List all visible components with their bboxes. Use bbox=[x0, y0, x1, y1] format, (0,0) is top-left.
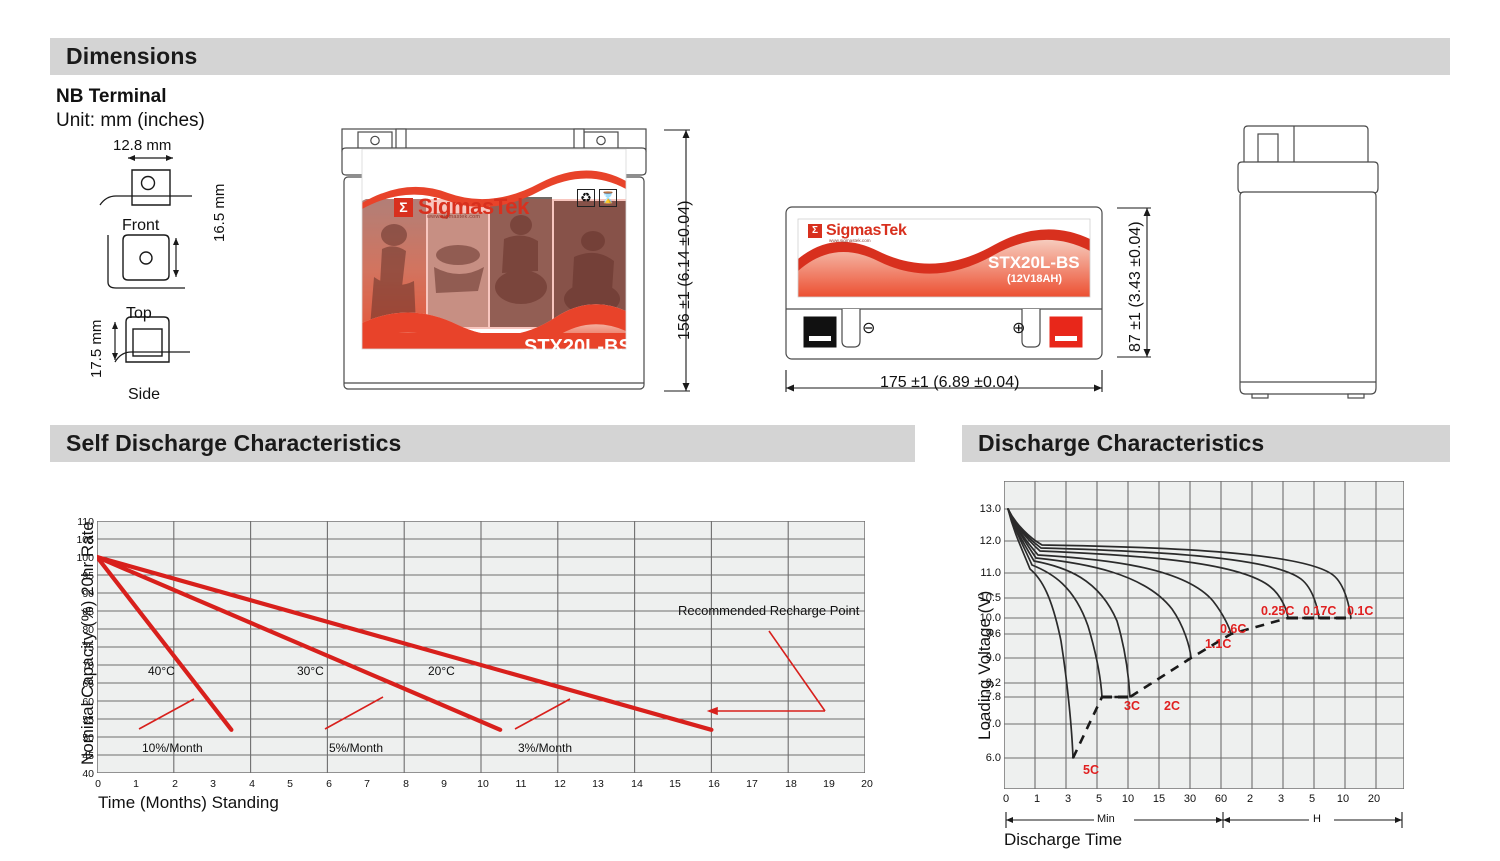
x-tick-11: 11 bbox=[515, 778, 527, 790]
y-tick-110: 110 bbox=[76, 516, 94, 528]
dy-tick-78: 7.8 bbox=[975, 691, 1001, 703]
y-tick-75: 75 bbox=[76, 642, 94, 654]
annotation-30c: 30°C bbox=[297, 664, 324, 678]
sigma-logo-icon-side: Σ bbox=[808, 224, 822, 238]
terminal-width-dim: 12.8 mm bbox=[113, 137, 171, 154]
x-tick-13: 13 bbox=[592, 778, 604, 790]
y-tick-70: 70 bbox=[76, 660, 94, 672]
dx-tick-2h: 2 bbox=[1245, 793, 1255, 805]
crate-label-3c: 3C bbox=[1124, 699, 1140, 713]
x-tick-7: 7 bbox=[363, 778, 371, 790]
dimensions-title: Dimensions bbox=[50, 43, 197, 70]
discharge-time-unit-bars bbox=[1004, 810, 1404, 835]
self-discharge-title: Self Discharge Characteristics bbox=[50, 430, 401, 457]
x-tick-18: 18 bbox=[785, 778, 797, 790]
dx-tick-3h: 3 bbox=[1276, 793, 1286, 805]
crate-label-2c: 2C bbox=[1164, 699, 1180, 713]
dx-tick-10h: 10 bbox=[1336, 793, 1350, 805]
recycle-icon: ♻ bbox=[577, 189, 595, 207]
x-tick-15: 15 bbox=[669, 778, 681, 790]
discharge-title: Discharge Characteristics bbox=[962, 430, 1264, 457]
battery-length-dim-text: 175 ±1 (6.89 ±0.04) bbox=[880, 374, 1019, 392]
battery-height-dim-text: 156 ±1 (6.14 ±0.04) bbox=[676, 201, 694, 340]
positive-terminal-symbol: ⊕ bbox=[1012, 318, 1025, 338]
terminal-top-label: Top bbox=[126, 305, 152, 323]
y-tick-90: 90 bbox=[76, 588, 94, 600]
x-tick-14: 14 bbox=[631, 778, 643, 790]
dy-tick-12: 12.0 bbox=[975, 535, 1001, 547]
dx-tick-1: 1 bbox=[1032, 793, 1042, 805]
y-tick-95: 95 bbox=[76, 570, 94, 582]
x-tick-20: 20 bbox=[861, 778, 873, 790]
battery-rating-front: (12V18AH) bbox=[556, 356, 621, 371]
dy-tick-7: 7.0 bbox=[975, 718, 1001, 730]
dy-tick-9: 9.0 bbox=[975, 652, 1001, 664]
annotation-10pct-month: 10%/Month bbox=[142, 741, 203, 755]
x-tick-1: 1 bbox=[132, 778, 140, 790]
x-tick-0: 0 bbox=[94, 778, 102, 790]
terminal-height-dim: 16.5 mm bbox=[211, 184, 228, 242]
x-tick-5: 5 bbox=[286, 778, 294, 790]
dy-tick-105: 10.5 bbox=[975, 592, 1001, 604]
x-tick-16: 16 bbox=[708, 778, 720, 790]
y-tick-65: 65 bbox=[76, 678, 94, 690]
annotation-20c: 20°C bbox=[428, 664, 455, 678]
x-tick-3: 3 bbox=[209, 778, 217, 790]
dx-tick-5h: 5 bbox=[1307, 793, 1317, 805]
discharge-section-header: Discharge Characteristics bbox=[962, 425, 1450, 462]
y-tick-40: 40 bbox=[76, 768, 94, 780]
crate-label-5c: 5C bbox=[1083, 763, 1099, 777]
dy-tick-10: 10.0 bbox=[975, 612, 1001, 624]
dx-tick-30: 30 bbox=[1183, 793, 1197, 805]
self-discharge-chart bbox=[97, 521, 865, 778]
dy-tick-96: 9.6 bbox=[975, 628, 1001, 640]
discharge-chart bbox=[1004, 481, 1404, 794]
y-tick-60: 60 bbox=[76, 696, 94, 708]
brand-website-side: www.sigmastek.com bbox=[829, 238, 871, 243]
y-tick-45: 45 bbox=[76, 750, 94, 762]
terminal-side-label: Side bbox=[128, 386, 160, 404]
x-tick-9: 9 bbox=[440, 778, 448, 790]
annotation-40c: 40°C bbox=[148, 664, 175, 678]
terminal-front-label: Front bbox=[122, 217, 159, 235]
terminal-type-label: NB Terminal bbox=[56, 86, 167, 108]
x-tick-4: 4 bbox=[248, 778, 256, 790]
x-tick-19: 19 bbox=[823, 778, 835, 790]
dy-tick-13: 13.0 bbox=[975, 503, 1001, 515]
dx-tick-5: 5 bbox=[1094, 793, 1104, 805]
x-tick-17: 17 bbox=[746, 778, 758, 790]
sigma-logo-icon: Σ bbox=[394, 198, 413, 217]
y-tick-100: 100 bbox=[76, 552, 94, 564]
terminal-depth-dim: 17.5 mm bbox=[88, 320, 105, 378]
y-tick-105: 105 bbox=[76, 534, 94, 546]
dy-tick-82: 8.2 bbox=[975, 677, 1001, 689]
dx-tick-0: 0 bbox=[1001, 793, 1011, 805]
x-tick-12: 12 bbox=[554, 778, 566, 790]
crate-label-0-6c: 0.6C bbox=[1220, 622, 1246, 636]
y-tick-55: 55 bbox=[76, 714, 94, 726]
crate-label-0-1c: 0.1C bbox=[1347, 604, 1373, 618]
y-tick-50: 50 bbox=[76, 732, 94, 744]
battery-model-side: STX20L-BS bbox=[988, 253, 1080, 273]
dx-tick-60: 60 bbox=[1214, 793, 1228, 805]
annotation-3pct-month: 3%/Month bbox=[518, 741, 572, 755]
crate-label-1-1c: 1.1C bbox=[1205, 637, 1231, 651]
dy-tick-6: 6.0 bbox=[975, 752, 1001, 764]
self-discharge-section-header: Self Discharge Characteristics bbox=[50, 425, 915, 462]
dy-tick-11: 11.0 bbox=[975, 567, 1001, 579]
crate-label-0-25c: 0.25C bbox=[1261, 604, 1294, 618]
crate-label-0-17c: 0.17C bbox=[1303, 604, 1336, 618]
brand-website-front: www.sigmastek.com bbox=[427, 214, 480, 220]
dx-tick-15: 15 bbox=[1152, 793, 1166, 805]
dx-tick-20h: 20 bbox=[1367, 793, 1381, 805]
dx-tick-10: 10 bbox=[1121, 793, 1135, 805]
hourglass-icon: ⌛ bbox=[599, 189, 617, 207]
battery-end-view bbox=[1228, 124, 1388, 407]
unit-label: Unit: mm (inches) bbox=[56, 110, 205, 132]
dimensions-section-header: Dimensions bbox=[50, 38, 1450, 75]
y-tick-80: 80 bbox=[76, 624, 94, 636]
x-tick-10: 10 bbox=[477, 778, 489, 790]
x-tick-8: 8 bbox=[402, 778, 410, 790]
battery-rating-side: (12V18AH) bbox=[1007, 273, 1062, 285]
battery-side-height-dim-text: 87 ±1 (3.43 ±0.04) bbox=[1127, 221, 1145, 352]
x-tick-2: 2 bbox=[171, 778, 179, 790]
dx-tick-3: 3 bbox=[1063, 793, 1073, 805]
x-tick-6: 6 bbox=[325, 778, 333, 790]
y-tick-85: 85 bbox=[76, 606, 94, 618]
unit-hour-label: H bbox=[1313, 813, 1321, 825]
unit-min-label: Min bbox=[1097, 813, 1115, 825]
battery-tagline: • Power Sports AGM Battery • Superior Pe… bbox=[366, 374, 633, 380]
annotation-recommended-recharge-point: Recommended Recharge Point bbox=[678, 603, 859, 618]
self-discharge-xlabel: Time (Months) Standing bbox=[98, 793, 279, 813]
negative-terminal-symbol: ⊖ bbox=[862, 318, 875, 338]
annotation-5pct-month: 5%/Month bbox=[329, 741, 383, 755]
